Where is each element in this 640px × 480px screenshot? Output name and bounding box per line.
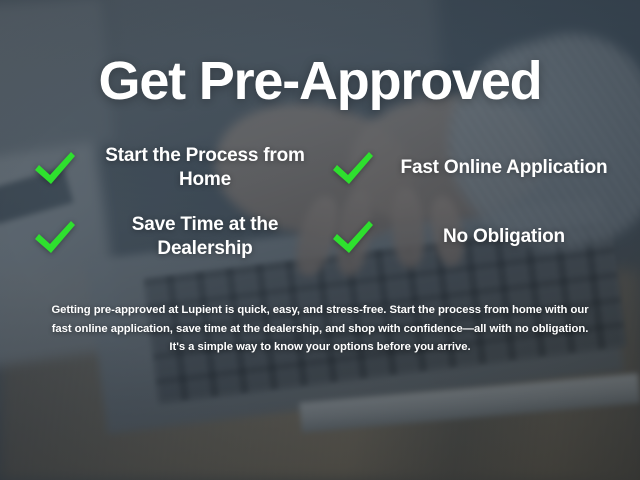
page-title: Get Pre-Approved (99, 54, 542, 108)
benefit-item-start-the-process-from-home: Start the Process from Home (20, 144, 320, 193)
check-icon (32, 148, 78, 188)
check-icon (330, 148, 376, 188)
benefit-item-fast-online-application: Fast Online Application (320, 144, 620, 193)
benefit-item-no-obligation: No Obligation (320, 213, 620, 262)
check-icon (330, 217, 376, 257)
benefit-label: Fast Online Application (388, 156, 620, 180)
benefit-label: No Obligation (388, 225, 620, 249)
description-paragraph: Getting pre-approved at Lupient is quick… (50, 301, 590, 356)
check-icon (32, 217, 78, 257)
benefit-label: Save Time at the Dealership (90, 213, 320, 262)
pre-approval-banner: Get Pre-Approved Start the Process from … (0, 0, 640, 480)
benefit-item-save-time-at-the-dealership: Save Time at the Dealership (20, 213, 320, 262)
benefits-grid: Start the Process from Home Fast Online … (20, 144, 620, 261)
banner-content: Get Pre-Approved Start the Process from … (0, 0, 640, 480)
benefit-label: Start the Process from Home (90, 144, 320, 193)
